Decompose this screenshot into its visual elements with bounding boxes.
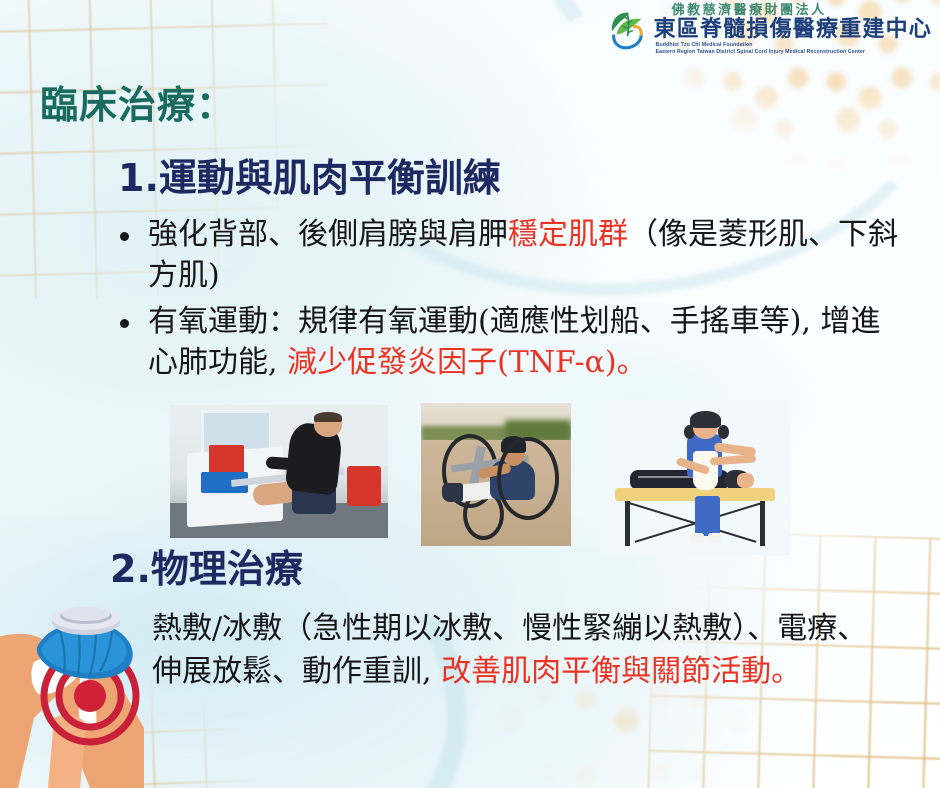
handcycle-photo-content xyxy=(421,403,571,546)
logo-foundation-name-zh: 佛教慈濟醫療財團法人 xyxy=(654,4,932,17)
bullet-1-highlight: 穩定肌群 xyxy=(508,217,628,252)
tzu-chi-lotus-logo-icon xyxy=(609,8,649,50)
page-title: 臨床治療： xyxy=(40,74,235,129)
physical-therapy-illustration-content xyxy=(600,400,790,555)
slide-canvas: 佛教慈濟醫療財團法人 東區脊髓損傷醫療重建中心 Buddhist Tzu Chi… xyxy=(0,0,940,788)
list-item: 強化背部、後側肩膀與肩胛穩定肌群（像是菱形肌、下斜方肌) xyxy=(112,214,902,297)
logo-center-name-zh: 東區脊髓損傷醫療重建中心 xyxy=(654,19,932,41)
section-1-heading: 1.運動與肌肉平衡訓練 xyxy=(118,147,501,202)
bullet-1-text-part1: 強化背部、後側肩膀與肩胛 xyxy=(148,217,508,252)
logo-center-name-en: Eastern Region Taiwan District Spinal Co… xyxy=(654,50,932,55)
section-2-paragraph: 熱敷/冰敷（急性期以冰敷、慢性緊繃以熱敷）、電療、伸展放鬆、動作重訓, 改善肌肉… xyxy=(152,608,872,694)
handcycle-photo xyxy=(421,403,571,546)
bullet-2-highlight: 減少促發炎因子(TNF-α)。 xyxy=(287,345,647,380)
list-item: 有氧運動：規律有氧運動(適應性划船、手搖車等), 增進心肺功能, 減少促發炎因子… xyxy=(112,301,902,384)
background-bubbles-bottom xyxy=(450,678,790,788)
paragraph-highlight: 改善肌肉平衡與關節活動。 xyxy=(441,654,801,689)
logo-foundation-name-en: Buddhist Tzu Chi Medical Foundation xyxy=(654,43,932,48)
section-1-bullet-list: 強化背部、後側肩膀與肩胛穩定肌群（像是菱形肌、下斜方肌) 有氧運動：規律有氧運動… xyxy=(112,214,902,388)
logo-text-block: 佛教慈濟醫療財團法人 東區脊髓損傷醫療重建中心 Buddhist Tzu Chi… xyxy=(654,4,932,55)
rowing-machine-photo-content xyxy=(170,405,388,538)
organization-logo: 佛教慈濟醫療財團法人 東區脊髓損傷醫療重建中心 Buddhist Tzu Chi… xyxy=(609,4,932,55)
physical-therapy-illustration xyxy=(600,400,790,555)
rowing-machine-photo xyxy=(170,405,388,538)
ice-pack-shoulder-illustration xyxy=(0,578,164,788)
